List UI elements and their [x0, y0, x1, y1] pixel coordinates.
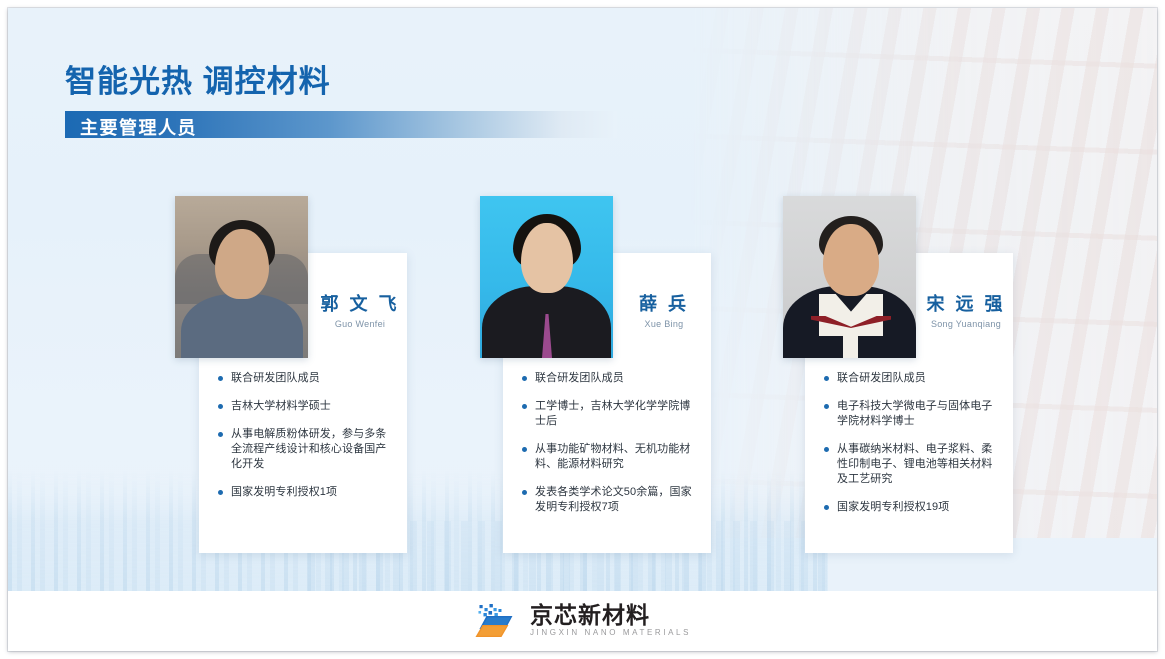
section-header-label: 主要管理人员 — [80, 114, 197, 140]
slide-stage: 智能光热 调控材料 主要管理人员 郭 文 飞 Guo Wenfei 联合研发团队… — [8, 8, 1157, 591]
list-item: 工学博士，吉林大学化学学院博士后 — [520, 399, 698, 429]
person-name-cn: 薛 兵 — [621, 290, 707, 316]
list-item: 联合研发团队成员 — [822, 371, 1000, 386]
list-item: 联合研发团队成员 — [216, 371, 394, 386]
jingxin-pixel-logo-icon — [474, 602, 521, 639]
person-photo — [480, 196, 613, 358]
person-name-block: 宋 远 强 Song Yuanqiang — [923, 290, 1009, 329]
list-item: 吉林大学材料学硕士 — [216, 399, 394, 414]
person-photo — [783, 196, 916, 358]
person-name-en: Guo Wenfei — [317, 319, 403, 329]
person-photo — [175, 196, 308, 358]
list-item: 联合研发团队成员 — [520, 371, 698, 386]
brand-name-cn: 京芯新材料 — [530, 603, 691, 627]
list-item: 电子科技大学微电子与固体电子学院材料学博士 — [822, 399, 1000, 429]
slide-footer: 京芯新材料 JINGXIN NANO MATERIALS — [8, 591, 1157, 651]
list-item: 从事碳纳米材料、电子浆料、柔性印制电子、锂电池等相关材料及工艺研究 — [822, 442, 1000, 487]
section-header-bar: 主要管理人员 — [65, 111, 617, 138]
list-item: 国家发明专利授权1项 — [216, 485, 394, 500]
person-name-cn: 郭 文 飞 — [317, 290, 403, 316]
list-item: 从事电解质粉体研发，参与多条全流程产线设计和核心设备国产化开发 — [216, 427, 394, 472]
list-item: 发表各类学术论文50余篇，国家发明专利授权7项 — [520, 485, 698, 515]
person-name-block: 郭 文 飞 Guo Wenfei — [317, 290, 403, 329]
slide: 智能光热 调控材料 主要管理人员 郭 文 飞 Guo Wenfei 联合研发团队… — [8, 8, 1157, 651]
brand-logo-text: 京芯新材料 JINGXIN NANO MATERIALS — [530, 603, 691, 639]
person-bullet-list: 联合研发团队成员 电子科技大学微电子与固体电子学院材料学博士 从事碳纳米材料、电… — [822, 371, 1000, 528]
page-title: 智能光热 调控材料 — [65, 56, 331, 101]
person-name-cn: 宋 远 强 — [923, 290, 1009, 316]
person-name-block: 薛 兵 Xue Bing — [621, 290, 707, 329]
brand-name-en: JINGXIN NANO MATERIALS — [530, 627, 691, 639]
list-item: 国家发明专利授权19项 — [822, 500, 1000, 515]
person-name-en: Xue Bing — [621, 319, 707, 329]
person-name-en: Song Yuanqiang — [923, 319, 1009, 329]
person-bullet-list: 联合研发团队成员 吉林大学材料学硕士 从事电解质粉体研发，参与多条全流程产线设计… — [216, 371, 394, 513]
person-bullet-list: 联合研发团队成员 工学博士，吉林大学化学学院博士后 从事功能矿物材料、无机功能材… — [520, 371, 698, 528]
list-item: 从事功能矿物材料、无机功能材料、能源材料研究 — [520, 442, 698, 472]
brand-logo: 京芯新材料 JINGXIN NANO MATERIALS — [474, 602, 691, 639]
